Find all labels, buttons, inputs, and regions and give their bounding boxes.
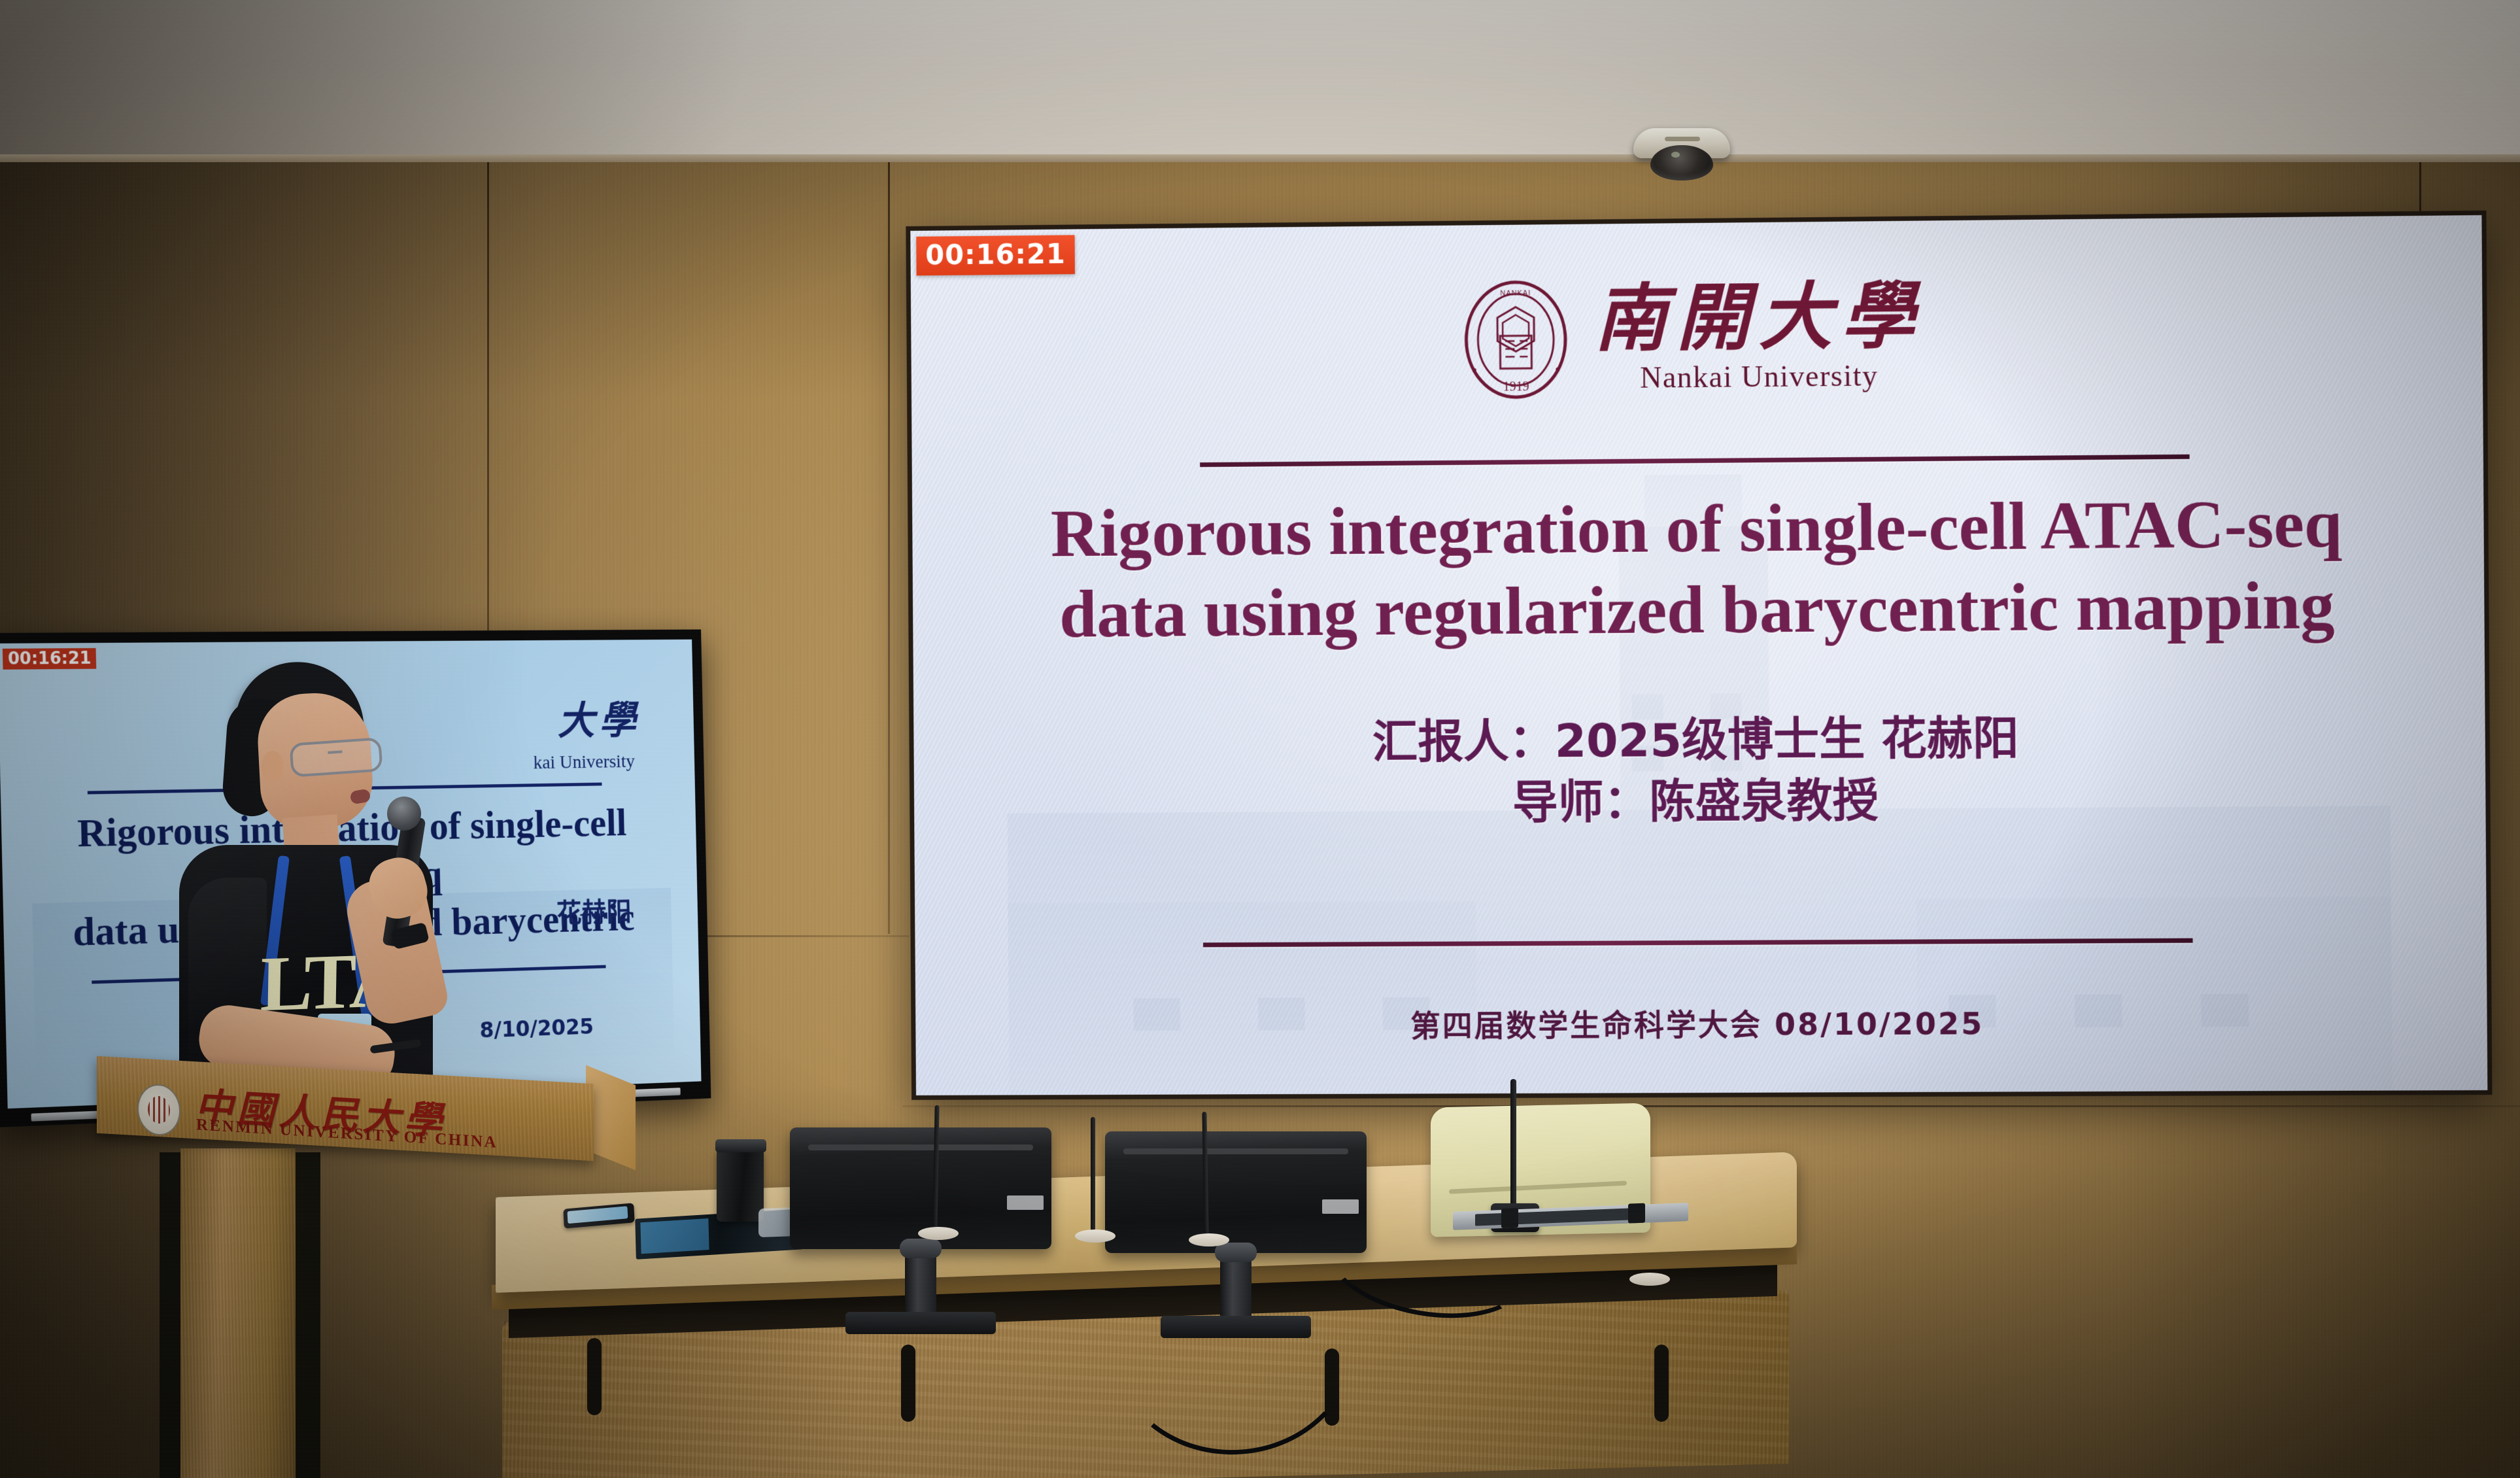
slide-content: 1919 NANKAI 南開大學 Nankai University Rigor… [910,215,2487,1095]
bottle-cap [715,1139,766,1152]
desk-slot [1654,1345,1669,1422]
slide-footer: 第四届数学生命科学大会 08/10/2025 [978,999,2423,1047]
dome-camera-icon [1633,128,1730,178]
microphone-puck [1075,1229,1115,1243]
nankai-logo-chinese: 南開大學 [1593,281,1924,357]
nankai-logo-lockup: 1919 NANKAI 南開大學 Nankai University [911,269,2483,407]
slide-title-line1: Rigorous integration of single-cell ATAC… [974,483,2421,576]
slide-presenter-block: 汇报人：2025级博士生 花赫阳 导师：陈盛泉教授 [976,706,2422,836]
nankai-seal-icon: 1919 NANKAI [1461,278,1571,402]
glasses-icon [289,737,383,778]
tv-presentation-timer: 00:16:21 [3,648,97,670]
presentation-timer: 00:16:21 [916,235,1075,275]
microphone-puck [918,1227,959,1240]
gooseneck-microphone-stem [1091,1117,1095,1233]
svg-text:NANKAI: NANKAI [1500,290,1531,298]
conference-room-photo: 1919 NANKAI 南開大學 Nankai University Rigor… [0,0,2520,1478]
svg-text:1919: 1919 [1503,380,1529,394]
slide-title: Rigorous integration of single-cell ATAC… [974,483,2421,657]
desk-slot [587,1338,602,1415]
desk-slot [901,1345,915,1422]
tv-logo-english: kai University [533,751,635,774]
tv-date-fragment: 8/10/2025 [479,1014,594,1044]
ceiling-shadow [0,0,981,163]
speaker-person: LTA [162,662,443,1100]
divider-rule-bottom [1203,938,2193,948]
tv-logo-chinese: 大學 [557,689,641,746]
slide-title-line2: data using regularized barycentric mappi… [975,564,2421,656]
presenter-line: 汇报人：2025级博士生 花赫阳 [976,706,2422,776]
divider-rule-top [1200,455,2190,467]
microphone-puck [1629,1273,1670,1286]
projection-screen: 1919 NANKAI 南開大學 Nankai University Rigor… [906,211,2492,1100]
tv-presenter-fragment: 花赫阳 [556,891,632,931]
advisor-line: 导师：陈盛泉教授 [976,767,2423,836]
water-bottle [717,1148,764,1222]
nankai-logo-english: Nankai University [1594,358,1924,395]
